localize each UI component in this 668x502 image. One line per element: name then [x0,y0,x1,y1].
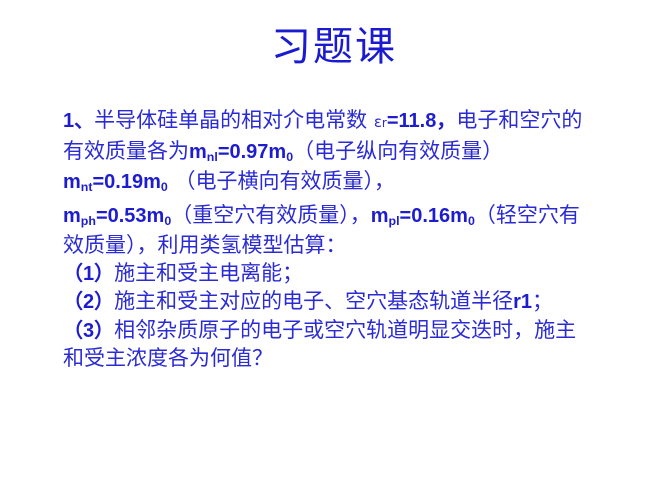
problem-item-2: （2）施主和受主对应的电子、空穴基态轨道半径r1； [63,288,663,317]
mass-symbol-nl-sub: nl [207,150,218,164]
problem-line-4: mph=0.53m0（重空穴有效质量），mpl=0.16m0（轻空穴有 [63,202,663,233]
problem-item-1: （1）施主和受主电离能； [63,260,663,289]
problem-line-3: mnt=0.19m0 （电子横向有效质量）， [63,168,663,199]
line3-text-b: （电子横向有效质量）， [168,169,395,193]
mass-nt-value: =0.19m [93,171,161,193]
mass-ph-value: =0.53m [96,205,164,227]
line1-text-b: 电子和空穴的 [456,108,582,132]
item-3-text-a: 相邻杂质原子的电子或空穴轨道明显交迭时，施主 [114,318,576,342]
mass-symbol-nt-sub: nt [81,180,93,194]
mass-symbol-nl-base: m [189,141,207,163]
line2-text-a: 有效质量各为 [63,139,189,163]
epsilon-symbol: ε [374,113,382,131]
problem-line-5: 效质量），利用类氢模型估算： [63,232,663,260]
mass-pl-value-sub: 0 [468,214,475,228]
mass-symbol-ph: mph=0.53m0 [63,205,171,227]
problem-item-3: （3）相邻杂质原子的电子或空穴轨道明显交迭时，施主 [63,317,663,346]
mass-symbol-ph-sub: ph [81,214,96,228]
line4-text-b: （轻空穴有 [475,203,580,227]
mass-symbol-pl-base: m [371,205,389,227]
item-1-label: （1） [63,263,114,285]
mass-symbol-nt: mnt=0.19m0 [63,171,168,193]
mass-pl-value: =0.16m [400,205,468,227]
mass-nl-value-sub: 0 [286,150,293,164]
item-2-label: （2） [63,291,114,313]
problem-body: 1、半导体硅单晶的相对介电常数 εr=11.8，电子和空穴的 有效质量各为mnl… [63,107,663,373]
mass-nt-value-sub: 0 [161,180,168,194]
page-title: 习题课 [0,24,668,70]
item-2-text-b: ； [532,289,553,313]
epsilon-value: =11.8， [387,110,457,132]
radius-symbol: r1 [513,291,532,313]
mass-symbol-pl-sub: pl [389,214,400,228]
mass-nl-value: =0.97m [218,141,286,163]
problem-line-1: 1、半导体硅单晶的相对介电常数 εr=11.8，电子和空穴的 [63,107,663,138]
item-1-text: 施主和受主电离能； [114,261,303,285]
mass-symbol-nl: mnl=0.97m0 [189,141,293,163]
mass-ph-value-sub: 0 [164,214,171,228]
mass-symbol-pl: mpl=0.16m0 [371,205,475,227]
mass-symbol-ph-base: m [63,205,81,227]
problem-line-2: 有效质量各为mnl=0.97m0（电子纵向有效质量） [63,138,663,169]
item-2-text-a: 施主和受主对应的电子、空穴基态轨道半径 [114,289,513,313]
line4-text-a: （重空穴有效质量）， [171,203,371,227]
line1-text-a: 半导体硅单晶的相对介电常数 [94,108,374,132]
mass-symbol-nt-base: m [63,171,81,193]
line2-text-b: （电子纵向有效质量） [293,139,503,163]
slide-canvas: 习题课 1、半导体硅单晶的相对介电常数 εr=11.8，电子和空穴的 有效质量各… [0,0,668,502]
problem-item-3-continued: 和受主浓度各为何值？ [63,345,663,373]
item-3-label: （3） [63,320,114,342]
problem-number: 1、 [63,110,94,132]
